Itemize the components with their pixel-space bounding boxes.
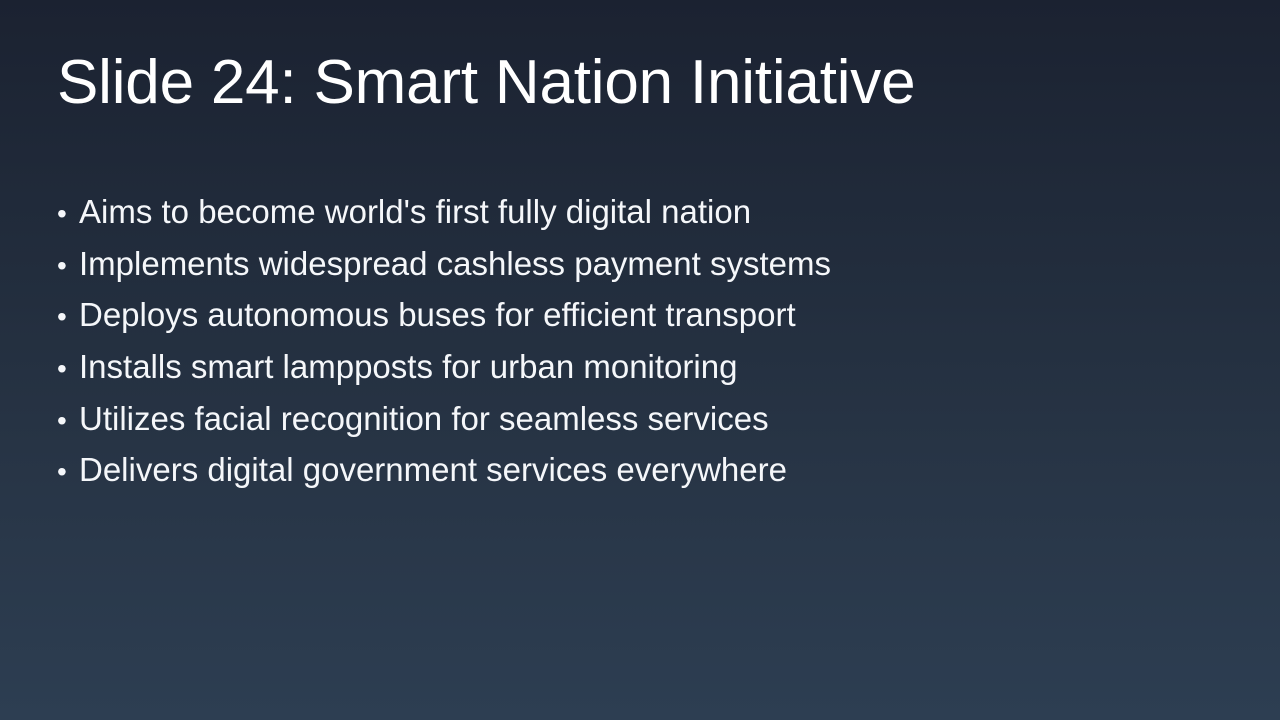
bullet-point-icon: • — [57, 188, 79, 240]
list-item-label: Installs smart lampposts for urban monit… — [79, 341, 737, 393]
page-title: Slide 24: Smart Nation Initiative — [57, 52, 1223, 114]
bullet-point-icon: • — [57, 343, 79, 395]
bullet-point-icon: • — [57, 240, 79, 292]
list-item: • Deploys autonomous buses for efficient… — [57, 289, 1227, 341]
list-item-label: Implements widespread cashless payment s… — [79, 238, 831, 290]
list-item: • Delivers digital government services e… — [57, 444, 1227, 496]
list-item-label: Aims to become world's first fully digit… — [79, 186, 751, 238]
presentation-slide: Slide 24: Smart Nation Initiative • Aims… — [0, 0, 1280, 720]
list-item: • Aims to become world's first fully dig… — [57, 186, 1227, 238]
list-item: • Utilizes facial recognition for seamle… — [57, 393, 1227, 445]
list-item-label: Deploys autonomous buses for efficient t… — [79, 289, 796, 341]
list-item-label: Utilizes facial recognition for seamless… — [79, 393, 769, 445]
bullet-list: • Aims to become world's first fully dig… — [57, 186, 1227, 496]
list-item: • Implements widespread cashless payment… — [57, 238, 1227, 290]
list-item-label: Delivers digital government services eve… — [79, 444, 787, 496]
bullet-point-icon: • — [57, 395, 79, 447]
list-item: • Installs smart lampposts for urban mon… — [57, 341, 1227, 393]
bullet-point-icon: • — [57, 291, 79, 343]
bullet-point-icon: • — [57, 446, 79, 498]
